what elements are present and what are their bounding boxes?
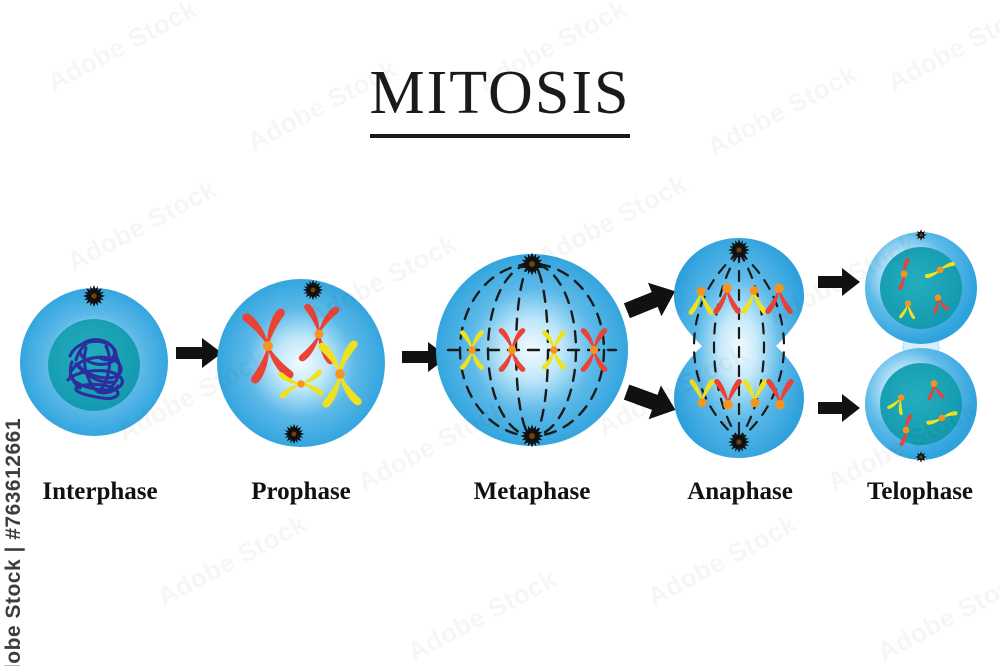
stage-label-metaphase: Metaphase [432, 478, 632, 506]
centrosome-icon [284, 424, 304, 444]
watermark-tile: Adobe Stock [62, 173, 222, 278]
cell-metaphase[interactable] [432, 244, 632, 456]
page-title-text: MITOSIS [370, 62, 631, 138]
watermark-tile: Adobe Stock [642, 508, 802, 613]
centrosome-icon [83, 285, 105, 307]
page-title: MITOSIS [0, 62, 1000, 138]
centrosome-icon [520, 252, 543, 275]
watermark-tile: Adobe Stock [872, 563, 1000, 666]
stage-label-anaphase: Anaphase [660, 478, 820, 506]
centrosome-icon [520, 424, 543, 447]
centrosome-icon [915, 451, 926, 462]
watermark-tile: Adobe Stock [152, 508, 312, 613]
stage-label-interphase: Interphase [0, 478, 200, 506]
cell-anaphase[interactable] [664, 234, 814, 466]
centrosome-icon [303, 280, 323, 300]
daughter-nucleus-top [880, 247, 962, 329]
centrosome-icon [915, 229, 926, 240]
centrosome-icon [728, 431, 750, 453]
cell-prophase[interactable] [206, 268, 396, 454]
centrosome-icon [728, 239, 750, 261]
cell-telophase[interactable] [856, 226, 986, 466]
stage-label-prophase: Prophase [206, 478, 396, 506]
adobe-stock-watermark-text: Adobe Stock | #763612661 [2, 418, 26, 666]
cell-membrane [217, 279, 385, 447]
watermark-tile: Adobe Stock [402, 563, 562, 666]
stage-label-telophase: Telophase [840, 478, 1000, 506]
cell-interphase[interactable] [10, 272, 178, 448]
mitosis-diagram: Adobe Stock Adobe Stock Adobe Stock Adob… [0, 0, 1000, 666]
